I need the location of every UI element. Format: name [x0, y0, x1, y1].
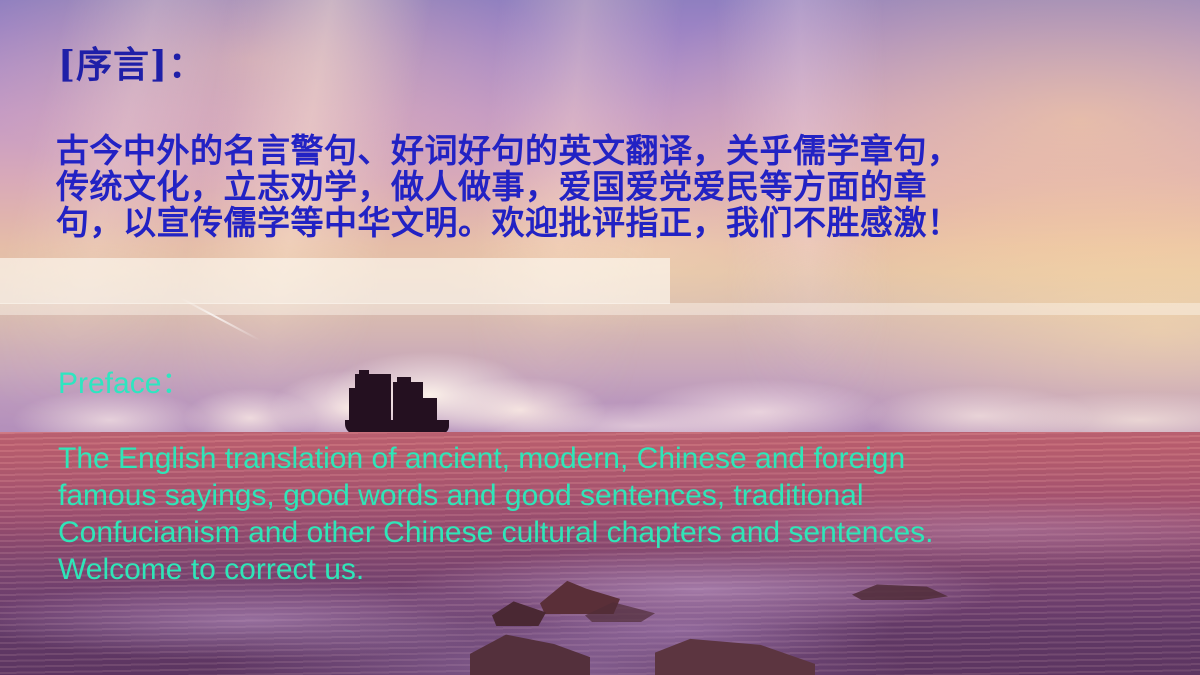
english-body: The English translation of ancient, mode…	[58, 440, 1118, 588]
chinese-body-line: 句，以宣传儒学等中华文明。欢迎批评指正，我们不胜感激！	[56, 205, 1156, 241]
english-body-line: Confucianism and other Chinese cultural …	[58, 514, 1118, 551]
overlay-band-2	[300, 258, 480, 304]
presentation-slide: [序言]： 古今中外的名言警句、好词好句的英文翻译，关乎儒学章句， 传统文化，立…	[0, 0, 1200, 675]
english-body-line: Welcome to correct us.	[58, 551, 1118, 588]
english-body-line: famous sayings, good words and good sent…	[58, 477, 1118, 514]
rock-island-silhouette	[345, 368, 455, 434]
english-title: Preface：	[58, 358, 191, 402]
chinese-body-line: 传统文化，立志劝学，做人做事，爱国爱党爱民等方面的章	[56, 169, 1156, 205]
overlay-band-1	[0, 258, 300, 304]
chinese-title: [序言]：	[58, 46, 205, 86]
overlay-band-3	[480, 258, 670, 304]
chinese-body-line: 古今中外的名言警句、好词好句的英文翻译，关乎儒学章句，	[56, 133, 1156, 169]
english-body-line: The English translation of ancient, mode…	[58, 440, 1118, 477]
chinese-body: 古今中外的名言警句、好词好句的英文翻译，关乎儒学章句， 传统文化，立志劝学，做人…	[56, 133, 1156, 241]
